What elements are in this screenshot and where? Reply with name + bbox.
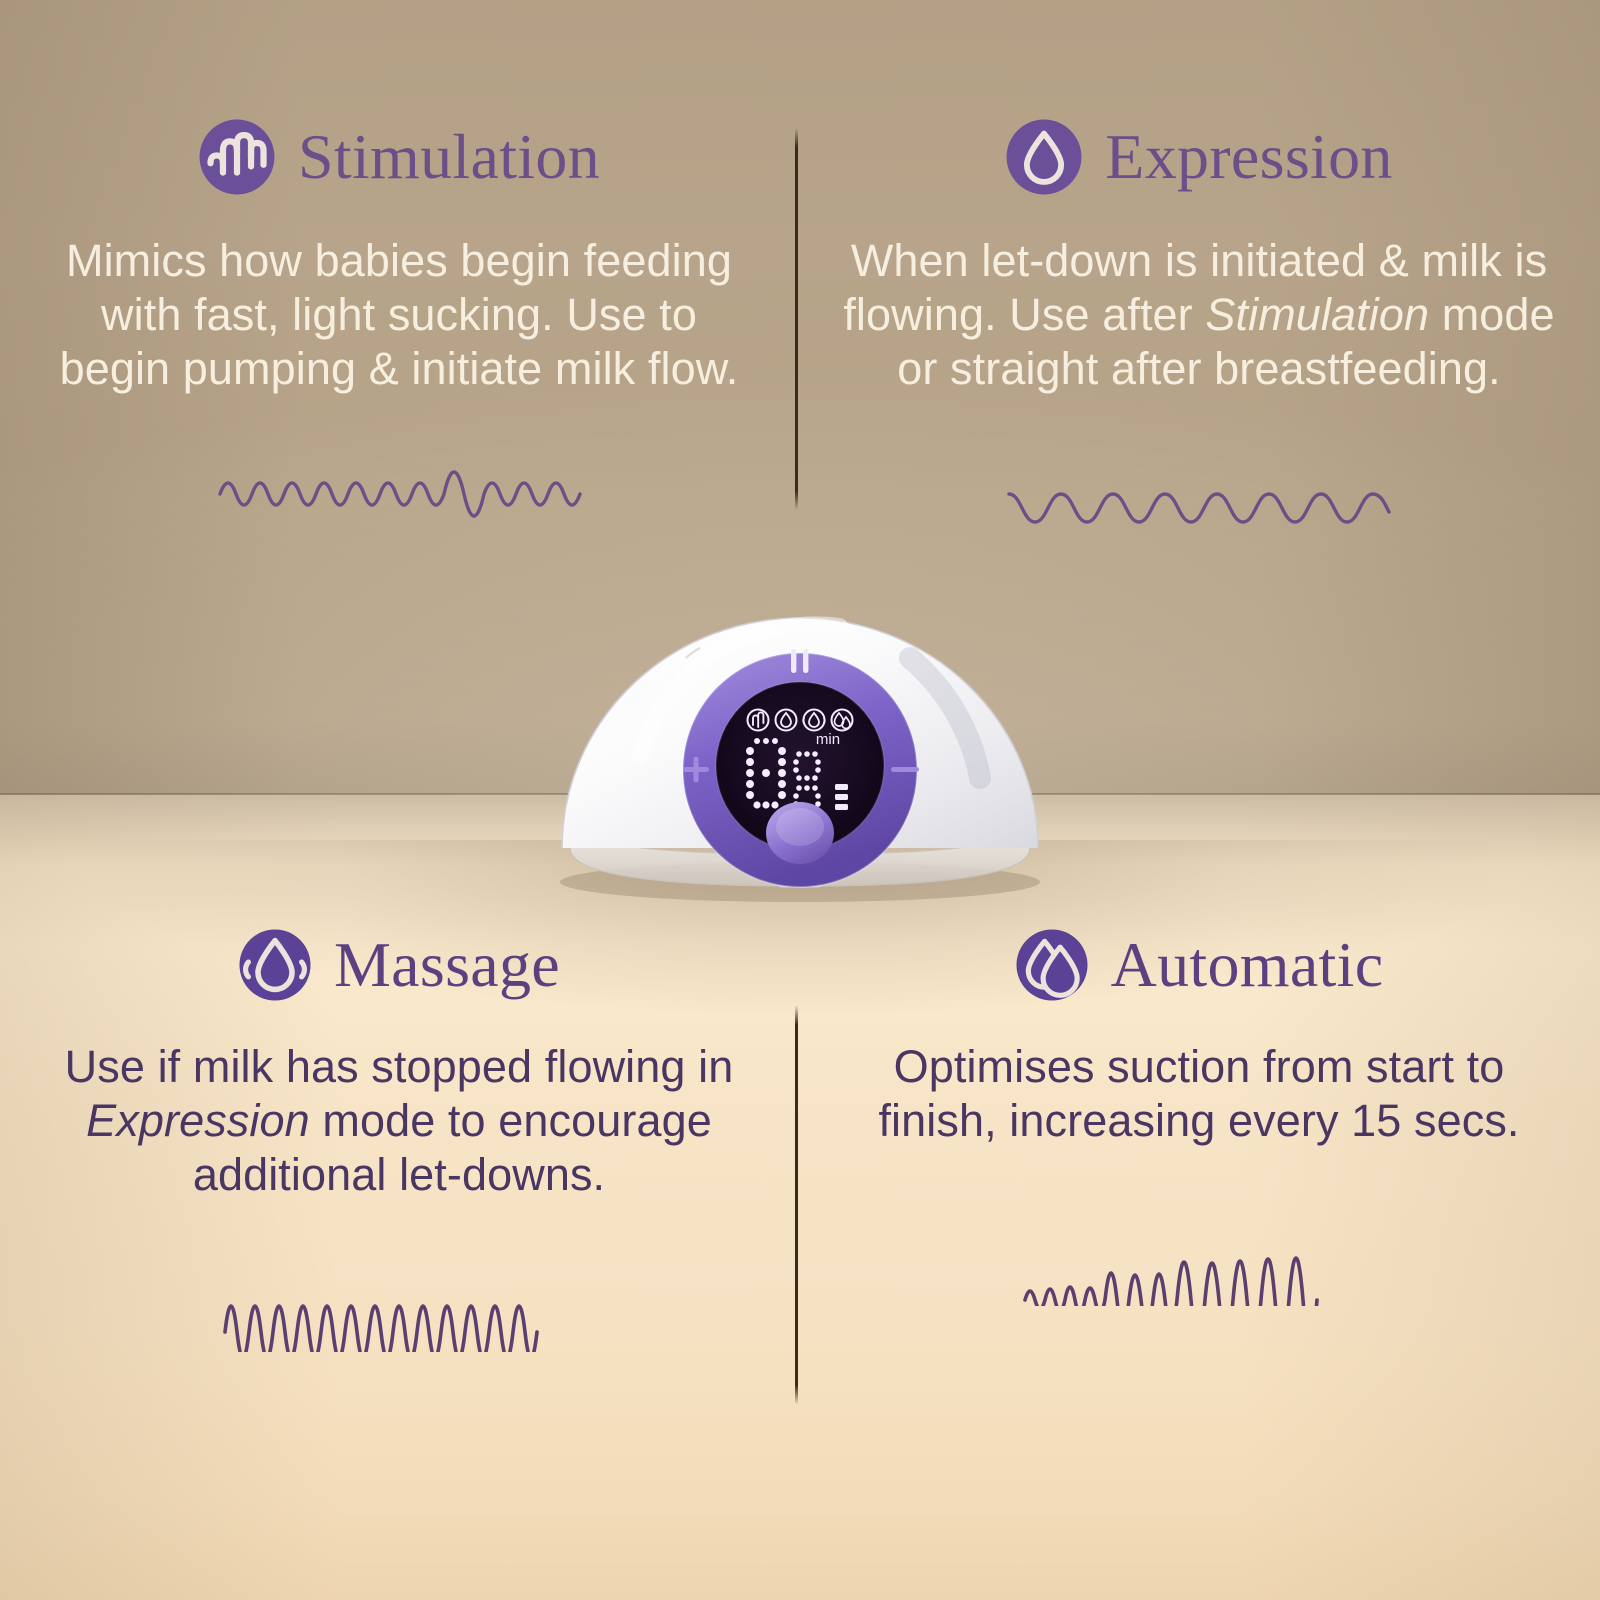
mode-body-massage: Use if milk has stopped flowing in Expre… xyxy=(40,1040,758,1202)
vertical-divider-bottom xyxy=(795,1005,798,1405)
mode-card-stimulation: Stimulation Mimics how babies begin feed… xyxy=(40,118,758,540)
waveform-stimulation xyxy=(40,448,758,540)
mode-title-massage: Massage xyxy=(334,933,560,997)
mode-header-automatic: Automatic xyxy=(838,928,1560,1002)
power-button[interactable] xyxy=(766,802,834,864)
droplet-with-side-arcs-icon xyxy=(238,928,312,1002)
mode-body-automatic: Optimises suction from start to finish, … xyxy=(838,1040,1560,1148)
waveform-expression xyxy=(838,456,1560,548)
waveform-massage xyxy=(40,1260,758,1352)
mode-title-stimulation: Stimulation xyxy=(298,125,600,189)
droplet-outline-icon xyxy=(1005,118,1083,196)
mode-card-massage: Massage Use if milk has stopped flowing … xyxy=(40,928,758,1352)
mode-body-stimulation: Mimics how babies begin feeding with fas… xyxy=(40,234,758,396)
mode-card-automatic: Automatic Optimises suction from start t… xyxy=(838,928,1560,1306)
product-breast-pump: Lansinoh xyxy=(510,548,1090,908)
mode-header-expression: Expression xyxy=(838,118,1560,196)
mode-card-expression: Expression When let-down is initiated & … xyxy=(838,118,1560,548)
mode-title-expression: Expression xyxy=(1105,125,1392,189)
decrease-suction-button[interactable] xyxy=(891,767,919,772)
mode-header-massage: Massage xyxy=(40,928,758,1002)
stimulation-wave-icon xyxy=(198,118,276,196)
vertical-divider-top xyxy=(795,128,798,510)
mode-header-stimulation: Stimulation xyxy=(40,118,758,196)
display-unit-label: min xyxy=(816,731,840,748)
waveform-automatic xyxy=(838,1206,1560,1306)
mode-title-automatic: Automatic xyxy=(1111,933,1384,997)
display-battery-indicator xyxy=(835,784,848,810)
two-droplets-icon xyxy=(1015,928,1089,1002)
mode-body-expression: When let-down is initiated & milk is flo… xyxy=(838,234,1560,396)
